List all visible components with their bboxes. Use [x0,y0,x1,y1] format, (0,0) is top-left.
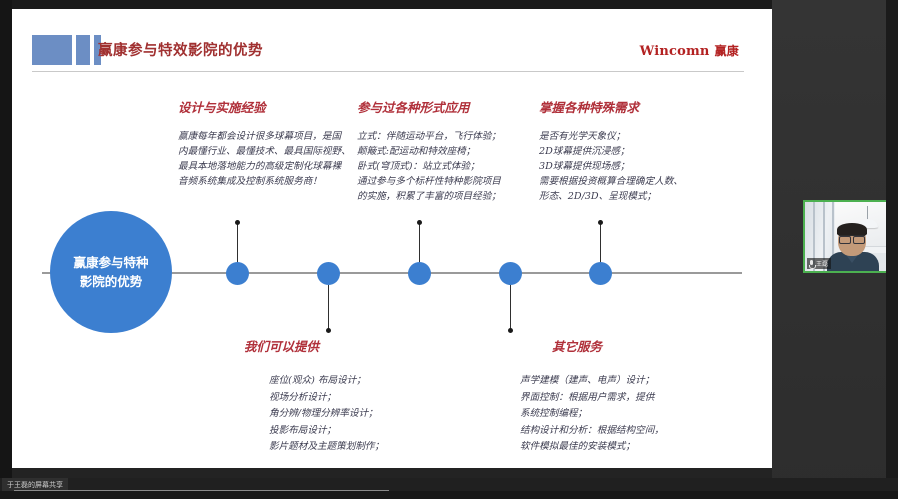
header-divider [32,71,744,72]
participant-name: 王磊 [816,259,828,268]
shared-slide-canvas[interactable]: 赢康参与特效影院的优势 Wincomn赢康 设计与实施经验 赢康每年都会设计很多… [12,9,772,468]
timeline-stem-down [328,285,329,330]
column-title: 设计与实施经验 [178,97,358,116]
column-line: 赢康每年都会设计很多球幕项目，是国 [178,129,358,144]
timeline-stem-down [510,285,511,330]
feature-column-application-forms: 参与过各种形式应用 立式：伴随运动平台，飞行体验； 颠簸式:配运动和特效座椅； … [357,97,547,204]
timeline-node[interactable] [499,262,522,285]
timeline-stem-cap [508,328,513,333]
column-line: 是否有光学天象仪； [539,129,724,144]
screen-share-status-bar: 于王磊的屏幕共享 [0,478,898,491]
block-body: 座位(观众) 布局设计； 视场分析设计； 角分辨/物理分辨率设计； 投影布局设计… [269,373,384,456]
block-line: 结构设计和分析：根据结构空间， [520,423,664,440]
column-line: 的实施，积累了丰富的项目经验； [357,189,547,204]
header-decoration [32,35,101,65]
block-line: 界面控制：根据用户需求，提供 [520,390,664,407]
participant-video-panel: 王磊 [772,0,898,499]
timeline-node[interactable] [317,262,340,285]
block-line: 软件模拟最佳的安装模式； [520,439,664,456]
microphone-icon [809,260,814,268]
block-title: 我们可以提供 [244,336,384,355]
video-name-badge: 王磊 [807,258,831,269]
window-right-bezel [886,0,898,499]
brand-logo-en: Wincomn [640,44,710,59]
column-line: 内最懂行业、最懂技术、最具国际视野、 [178,144,358,159]
column-body: 是否有光学天象仪； 2D球幕提供沉浸感； 3D球幕提供现场感； 需要根据投资概算… [539,129,724,204]
column-title: 掌握各种特殊需求 [539,97,724,116]
video-tile-active-speaker[interactable]: 王磊 [803,200,897,273]
block-line: 声学建模（建声、电声）设计； [520,373,664,390]
block-line: 视场分析设计； [269,390,384,407]
column-line: 需要根据投资概算合理确定人数、 [539,174,724,189]
timeline-stem-cap [326,328,331,333]
column-line: 音频系统集成及控制系统服务商！ [178,174,358,189]
timeline-hub-label: 赢康参与特种影院的优势 [73,253,148,291]
block-line: 影片题材及主题策划制作； [269,439,384,456]
header-block-medium [76,35,90,65]
column-body: 立式：伴随运动平台，飞行体验； 颠簸式:配运动和特效座椅； 卧式(穹顶式)：站立… [357,129,547,204]
column-line: 形态、2D/3D、呈现模式； [539,189,724,204]
block-line: 系统控制编程； [520,406,664,423]
brand-logo-cn: 赢康 [715,44,739,58]
slide-title: 赢康参与特效影院的优势 [98,39,263,60]
brand-logo: Wincomn赢康 [640,42,739,59]
window-top-bezel [0,0,898,9]
feature-block-we-provide: 我们可以提供 座位(观众) 布局设计； 视场分析设计； 角分辨/物理分辨率设计；… [244,336,384,456]
column-line: 通过参与多个标杆性特种影院项目 [357,174,547,189]
glasses-icon [839,235,865,242]
block-body: 声学建模（建声、电声）设计； 界面控制：根据用户需求，提供 系统控制编程； 结构… [520,373,664,456]
block-line: 座位(观众) 布局设计； [269,373,384,390]
screen-share-label: 于王磊的屏幕共享 [7,480,63,490]
timeline-node[interactable] [589,262,612,285]
feature-column-special-requirements: 掌握各种特殊需求 是否有光学天象仪； 2D球幕提供沉浸感； 3D球幕提供现场感；… [539,97,724,204]
block-title: 其它服务 [552,336,664,355]
window-left-bezel [0,0,12,499]
column-line: 最具本地落地能力的高级定制化球幕裸 [178,159,358,174]
timeline-stem-cap [598,220,603,225]
feature-column-design-experience: 设计与实施经验 赢康每年都会设计很多球幕项目，是国 内最懂行业、最懂技术、最具国… [178,97,358,189]
column-line: 2D球幕提供沉浸感； [539,144,724,159]
timeline-hub: 赢康参与特种影院的优势 [50,211,172,333]
timeline-node[interactable] [226,262,249,285]
column-body: 赢康每年都会设计很多球幕项目，是国 内最懂行业、最懂技术、最具国际视野、 最具本… [178,129,358,189]
window-bottom-bezel [0,491,898,499]
timeline-stem-cap [417,220,422,225]
timeline-stem-cap [235,220,240,225]
column-line: 立式：伴随运动平台，飞行体验； [357,129,547,144]
feature-block-other-services: 其它服务 声学建模（建声、电声）设计； 界面控制：根据用户需求，提供 系统控制编… [520,336,664,456]
column-line: 卧式(穹顶式)：站立式体验； [357,159,547,174]
lamp-cord-icon [867,206,868,220]
timeline-node[interactable] [408,262,431,285]
column-line: 3D球幕提供现场感； [539,159,724,174]
block-line: 投影布局设计； [269,423,384,440]
header-block-large [32,35,72,65]
block-line: 角分辨/物理分辨率设计； [269,406,384,423]
column-title: 参与过各种形式应用 [357,97,547,116]
column-line: 颠簸式:配运动和特效座椅； [357,144,547,159]
meeting-window: 赢康参与特效影院的优势 Wincomn赢康 设计与实施经验 赢康每年都会设计很多… [0,0,898,499]
